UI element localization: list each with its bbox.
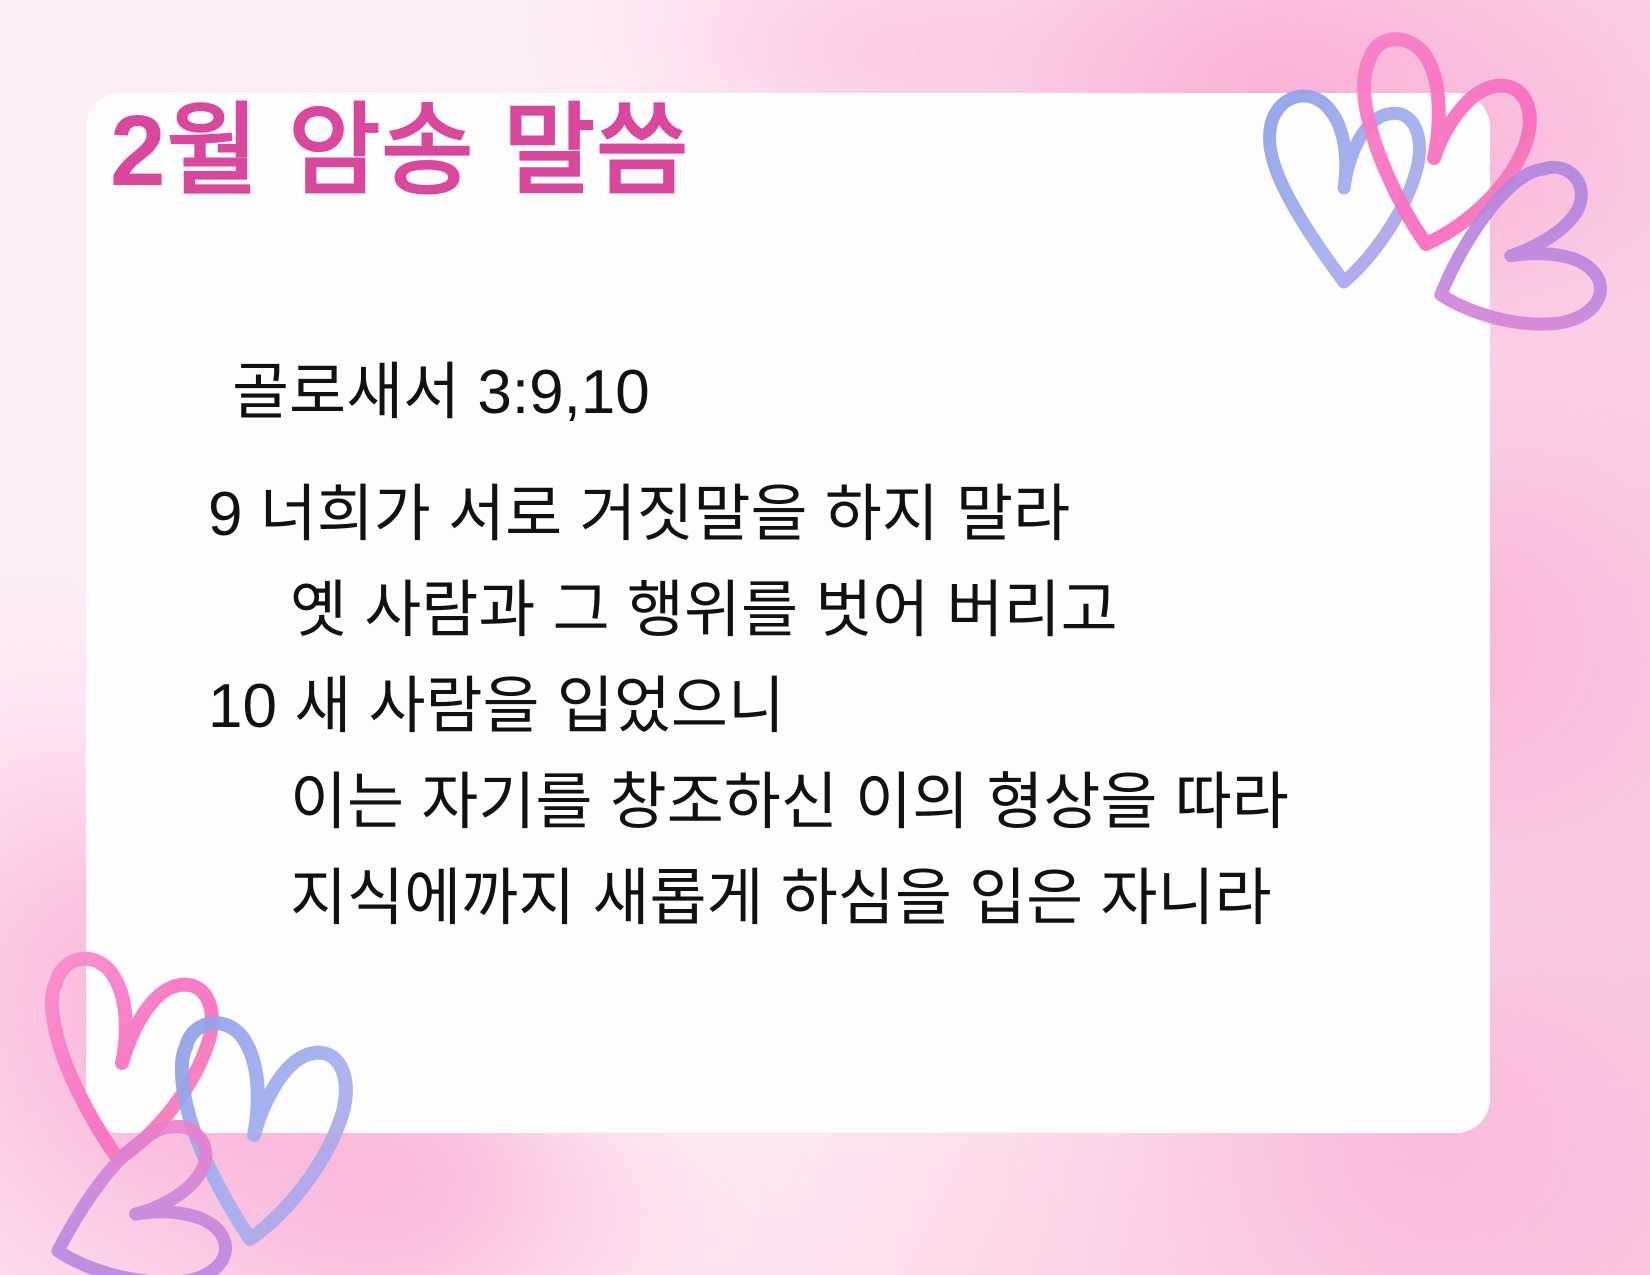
slide-canvas: 2월 암송 말씀 골로새서 3:9,10 9 너희가 서로 거짓말을 하지 말라… — [0, 0, 1650, 1275]
scripture-reference: 골로새서 3:9,10 — [232, 362, 1412, 424]
scripture-line-5: 지식에까지 새롭게 하심을 입은 자니라 — [232, 868, 1412, 930]
page-title: 2월 암송 말씀 — [110, 96, 689, 206]
scripture-line-3: 10 새 사람을 입었으니 — [208, 676, 1412, 738]
scripture-line-4: 이는 자기를 창조하신 이의 형상을 따라 — [232, 772, 1412, 834]
scripture-line-2: 옛 사람과 그 행위를 벗어 버리고 — [232, 580, 1412, 642]
scripture-block: 골로새서 3:9,10 9 너희가 서로 거짓말을 하지 말라 옛 사람과 그 … — [232, 362, 1412, 930]
scripture-line-1: 9 너희가 서로 거짓말을 하지 말라 — [208, 484, 1412, 546]
